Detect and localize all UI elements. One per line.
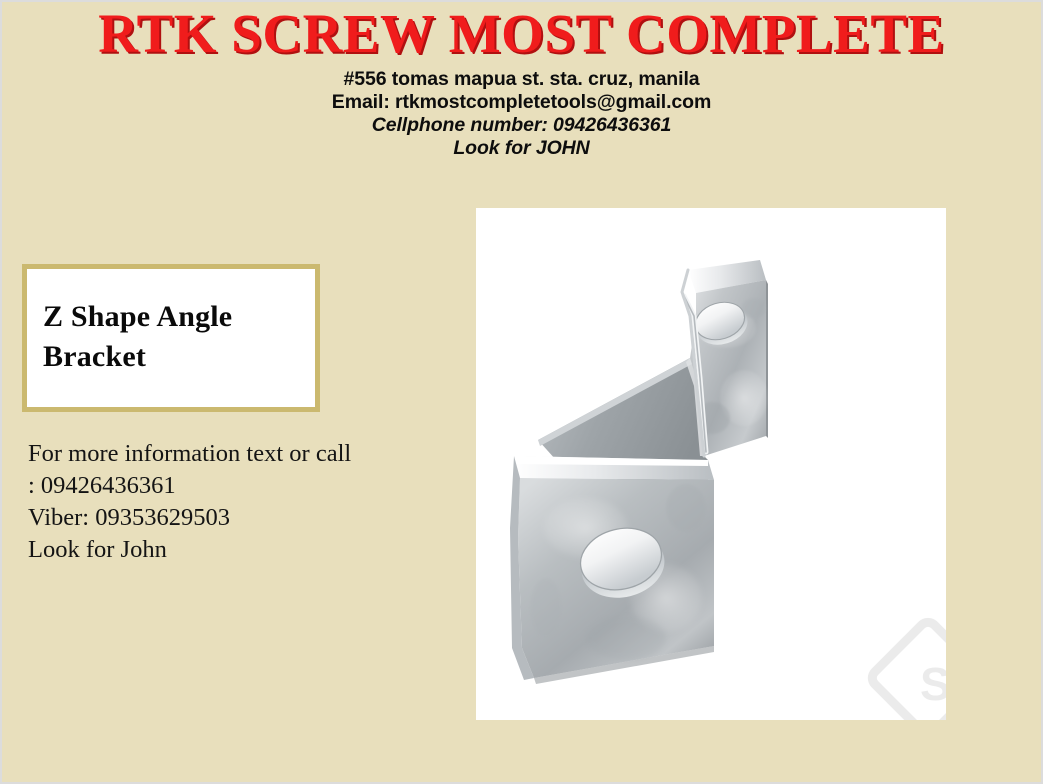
- contact-info-block: For more information text or call : 0942…: [28, 438, 448, 566]
- store-contact-person: Look for JOHN: [2, 137, 1041, 160]
- header: RTK SCREW MOST COMPLETE #556 tomas mapua…: [2, 2, 1041, 160]
- page-title: RTK SCREW MOST COMPLETE: [2, 2, 1041, 64]
- product-name: Z Shape Angle Bracket: [43, 297, 315, 377]
- store-cellphone: Cellphone number: 09426436361: [2, 114, 1041, 137]
- product-photo: S: [476, 208, 946, 720]
- store-email: Email: rtkmostcompletetools@gmail.com: [2, 91, 1041, 114]
- svg-text:S: S: [920, 658, 946, 710]
- contact-line: For more information text or call: [28, 438, 448, 470]
- flyer-page: RTK SCREW MOST COMPLETE #556 tomas mapua…: [0, 0, 1043, 784]
- z-angle-bracket-illustration: S: [476, 208, 946, 720]
- contact-line: : 09426436361: [28, 470, 448, 502]
- contact-line: Viber: 09353629503: [28, 502, 448, 534]
- product-name-box: Z Shape Angle Bracket: [22, 264, 320, 412]
- contact-line: Look for John: [28, 534, 448, 566]
- lower-plate: [510, 456, 714, 684]
- store-address: #556 tomas mapua st. sta. cruz, manila: [2, 68, 1041, 91]
